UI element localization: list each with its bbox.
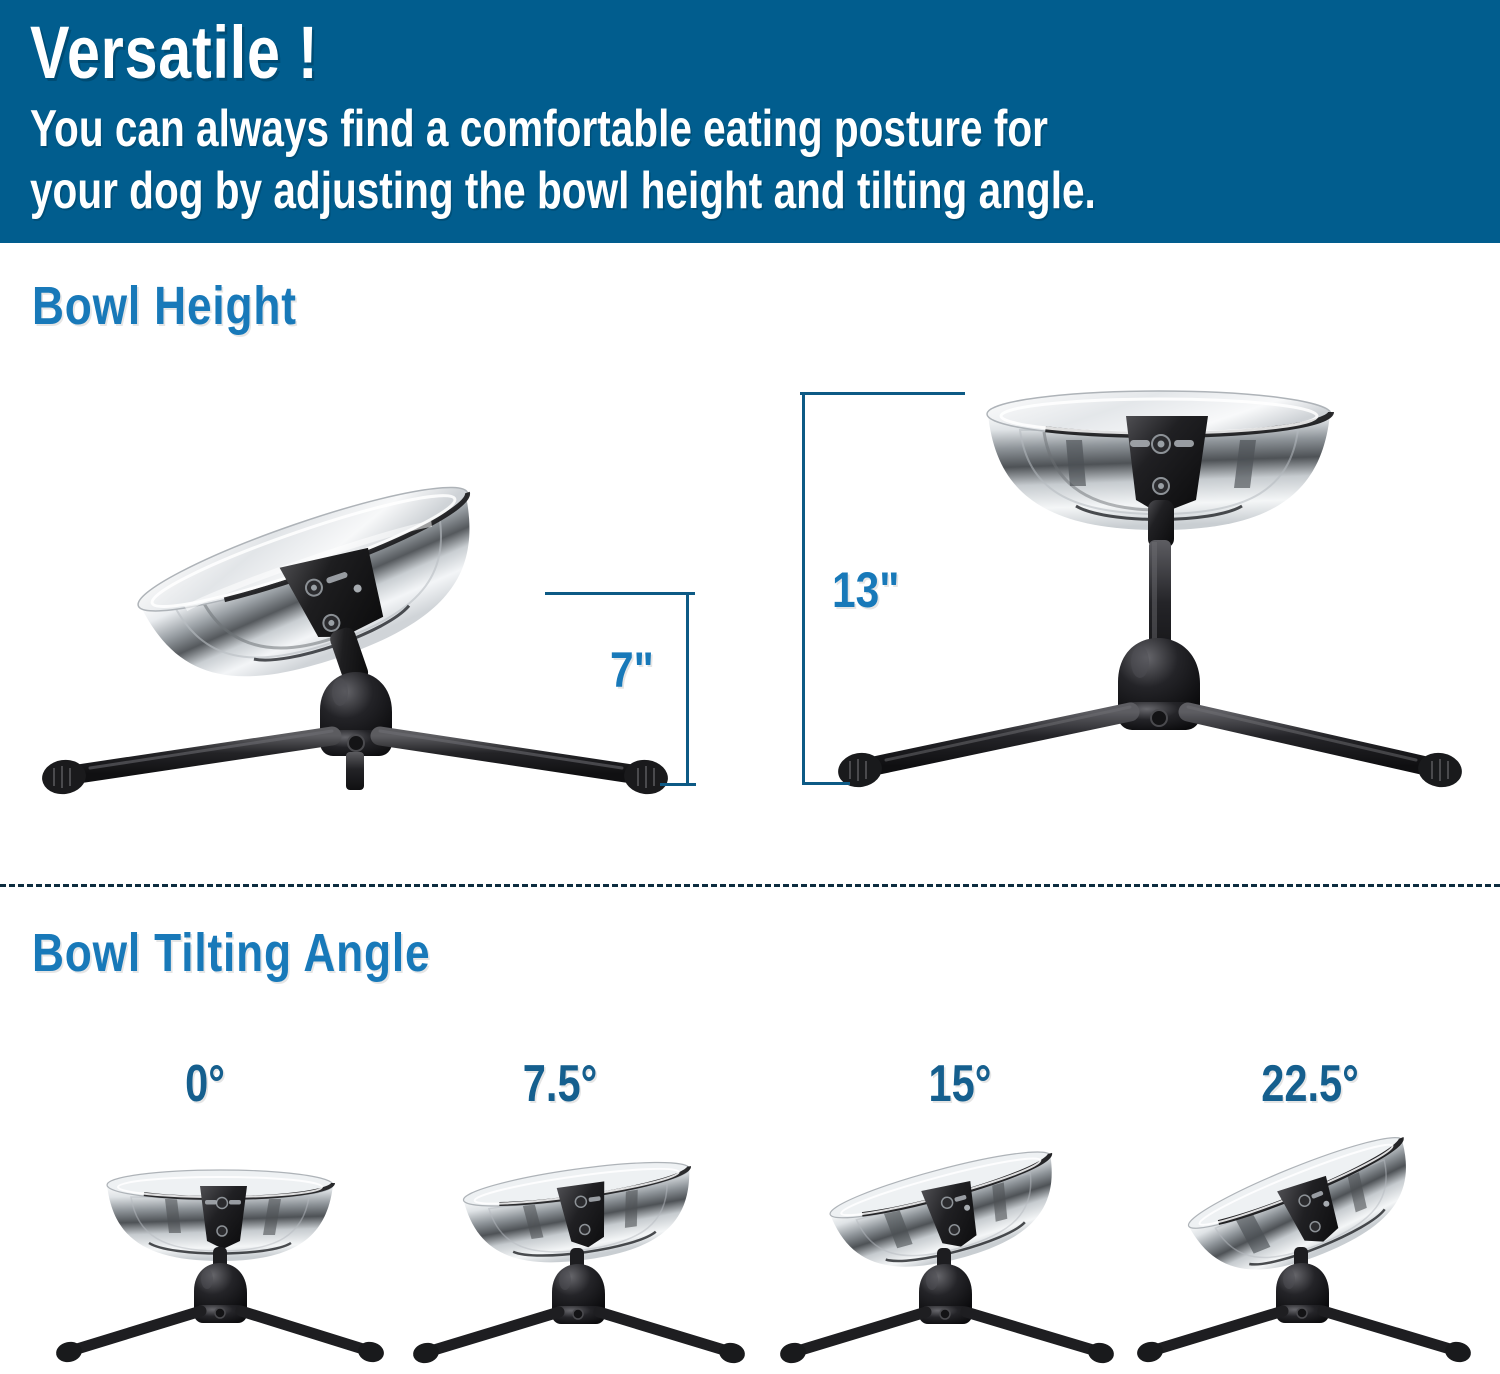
banner-subtitle-line-2: your dog by adjusting the bowl height an… [30, 160, 1155, 222]
banner-subtitle: You can always find a comfortable eating… [30, 98, 1472, 222]
header-banner: Versatile ! You can always find a comfor… [0, 0, 1500, 243]
bowl-height-heading: Bowl Height [32, 278, 297, 334]
dimension-tick-top-7in [545, 592, 695, 595]
product-photo-tilt-15 [775, 1150, 1120, 1365]
angle-label-22-5: 22.5° [1246, 1058, 1374, 1110]
section-divider [0, 884, 1500, 887]
dimension-line-7in [686, 592, 689, 786]
product-photo-tilt-7-5 [410, 1150, 750, 1365]
product-photo-tilt-0 [55, 1155, 385, 1365]
dimension-tick-top-13in [800, 392, 965, 395]
dimension-tick-bottom-13in [802, 782, 850, 785]
angle-label-7-5: 7.5° [496, 1058, 624, 1110]
bowl-tilting-angle-heading: Bowl Tilting Angle [32, 925, 430, 981]
angle-label-0: 0° [141, 1058, 269, 1110]
infographic-page: Versatile ! You can always find a comfor… [0, 0, 1500, 1374]
banner-title: Versatile ! [30, 14, 1184, 92]
product-photo-high-height [830, 382, 1470, 792]
dimension-label-7in: 7" [610, 645, 654, 695]
dimension-line-13in [802, 392, 805, 784]
product-photo-tilt-22-5 [1130, 1145, 1480, 1365]
product-photo-low-height [20, 430, 700, 810]
dimension-tick-bottom-7in [660, 783, 696, 786]
banner-subtitle-line-1: You can always find a comfortable eating… [30, 98, 1155, 160]
dimension-label-13in: 13" [832, 565, 899, 615]
angle-label-15: 15° [896, 1058, 1024, 1110]
